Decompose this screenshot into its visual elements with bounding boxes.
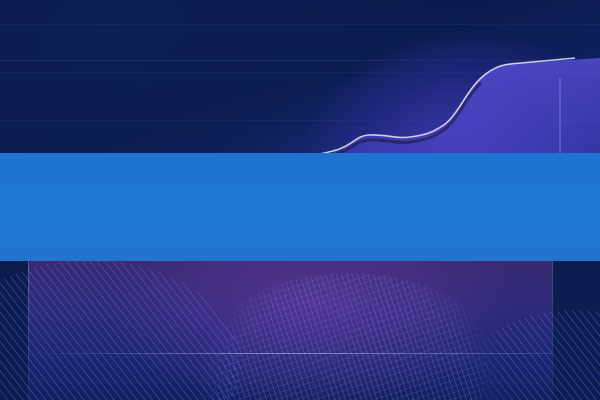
bottom-vline-left (28, 261, 29, 400)
bottom-horizontal-rule (28, 353, 552, 354)
thumbnail-banner-image (0, 0, 600, 400)
title-banner (0, 153, 600, 261)
banner-particle-texture (0, 153, 600, 261)
bottom-background-scene (0, 261, 600, 400)
bottom-vline-right (552, 261, 553, 400)
